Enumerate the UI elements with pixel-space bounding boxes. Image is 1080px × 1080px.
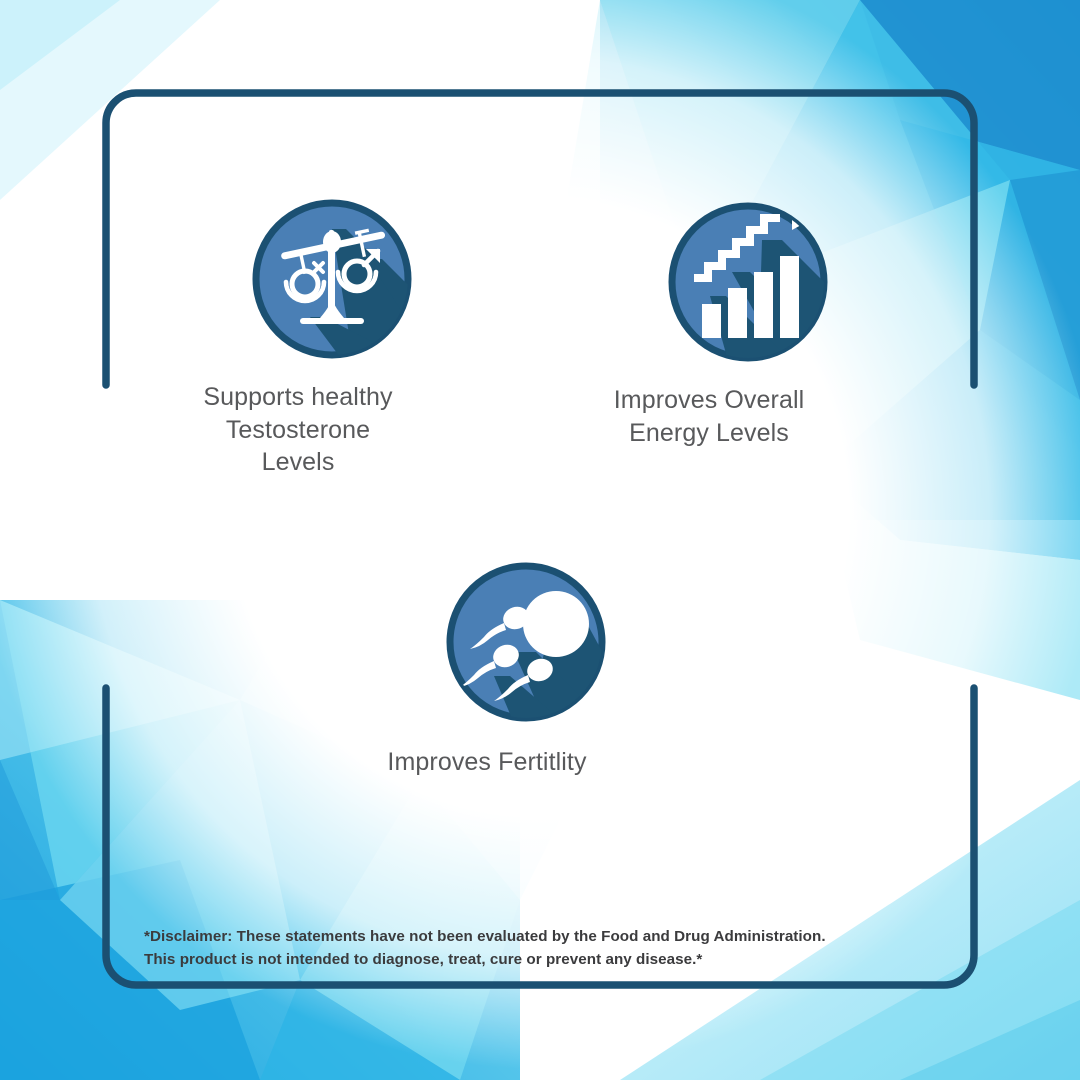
benefit-card-testosterone: Supports healthy Testosterone Levels [250,197,414,479]
bar-chart-rising-arrow-icon [666,200,830,364]
benefit-label-testosterone: Supports healthy Testosterone Levels [148,381,448,479]
rounded-frame-border [0,0,1080,1080]
benefit-card-energy: Improves Overall Energy Levels [666,200,830,449]
poster-canvas: Supports healthy Testosterone Levels [0,0,1080,1080]
benefit-label-energy: Improves Overall Energy Levels [549,384,869,449]
benefit-label-fertility: Improves Fertitlity [327,746,647,779]
balance-scale-gender-icon [250,197,414,361]
sperm-egg-fertility-icon [444,560,608,724]
frame-top-path [106,93,974,385]
benefit-card-fertility: Improves Fertitlity [444,560,608,779]
disclaimer-text: *Disclaimer: These statements have not b… [144,925,944,971]
